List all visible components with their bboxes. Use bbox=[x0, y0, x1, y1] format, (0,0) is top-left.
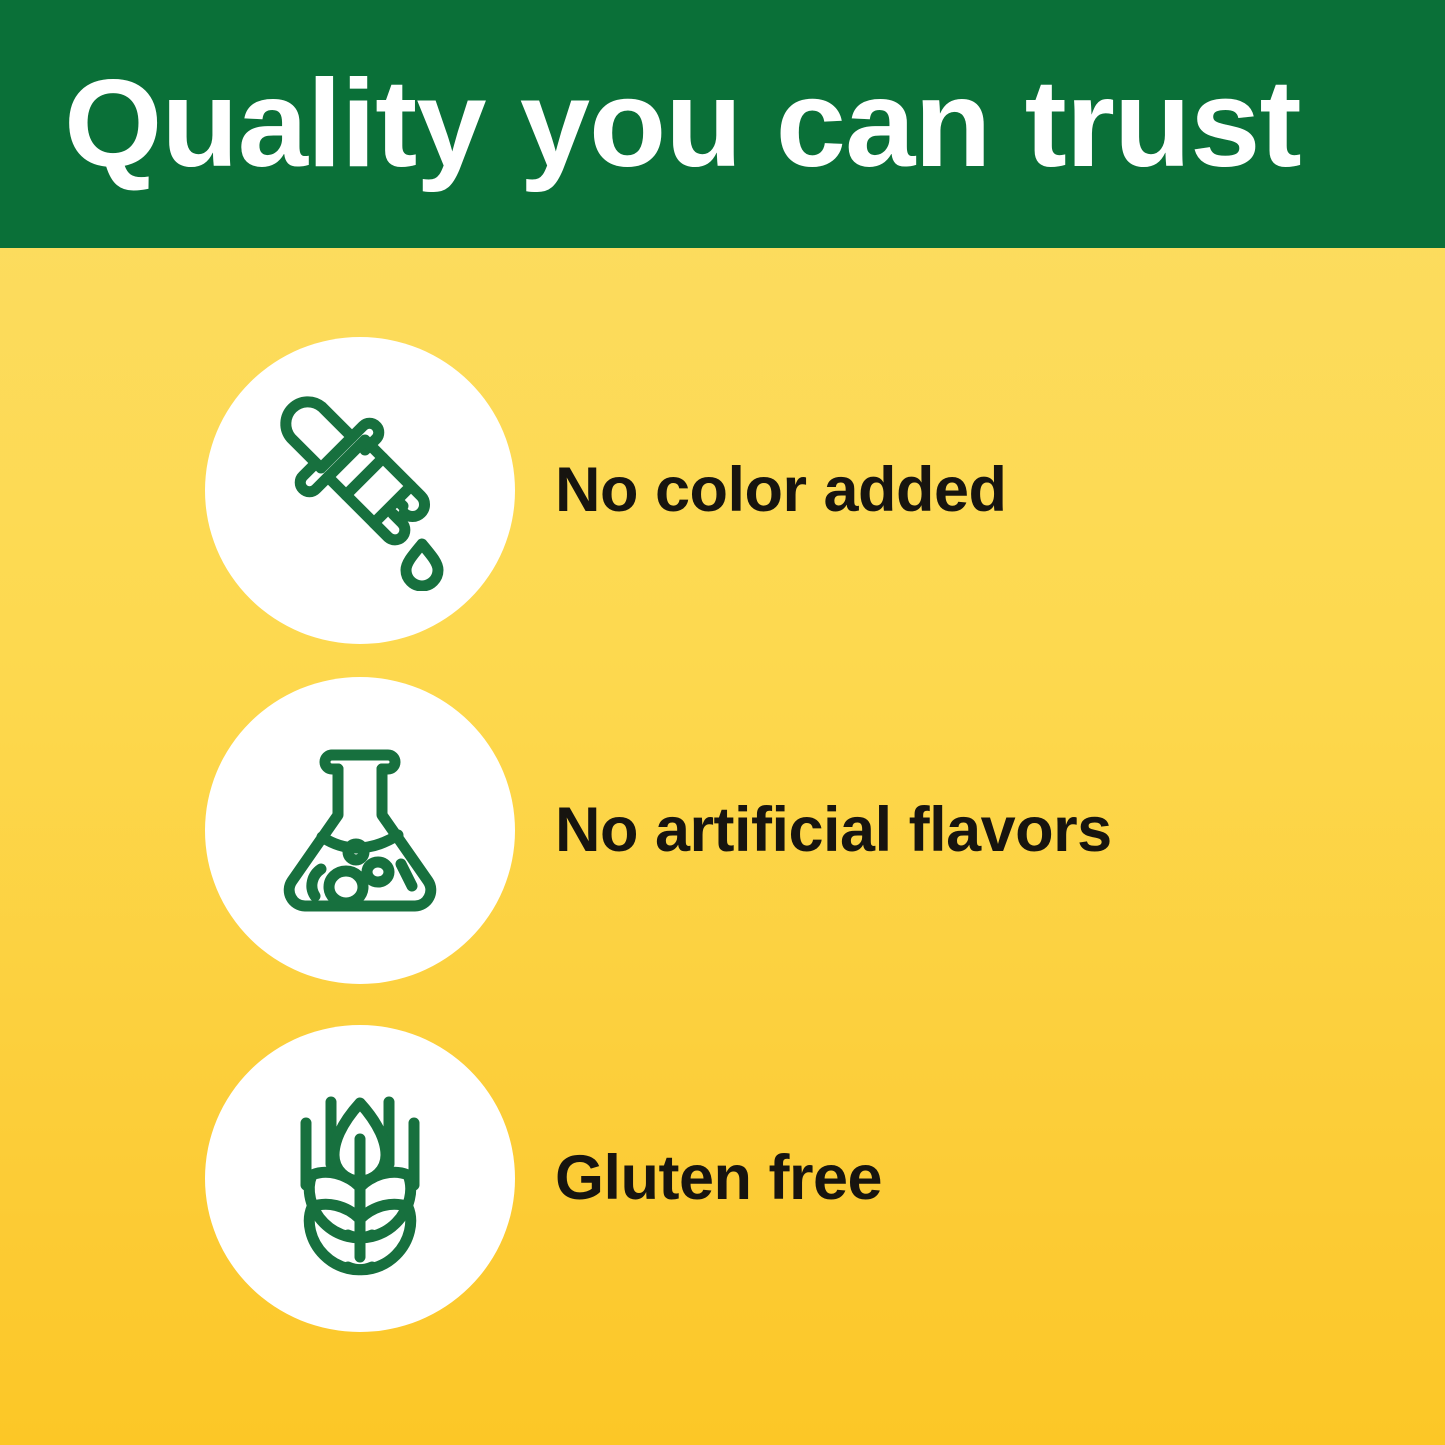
feature-item: Gluten free bbox=[0, 1006, 1445, 1351]
header-banner: Quality you can trust bbox=[0, 0, 1445, 248]
wheat-icon bbox=[260, 1079, 460, 1279]
feature-item: No artificial flavors bbox=[0, 658, 1445, 1003]
feature-list: No color added bbox=[0, 248, 1445, 1445]
icon-badge bbox=[205, 677, 515, 984]
feature-label: No artificial flavors bbox=[555, 799, 1112, 862]
dropper-icon bbox=[260, 391, 460, 591]
icon-badge bbox=[205, 337, 515, 644]
feature-label: No color added bbox=[555, 459, 1007, 522]
page-title: Quality you can trust bbox=[64, 62, 1301, 186]
feature-label: Gluten free bbox=[555, 1147, 882, 1210]
flask-icon bbox=[260, 731, 460, 931]
product-claims-poster: Quality you can trust bbox=[0, 0, 1445, 1445]
icon-badge bbox=[205, 1025, 515, 1332]
feature-item: No color added bbox=[0, 318, 1445, 663]
